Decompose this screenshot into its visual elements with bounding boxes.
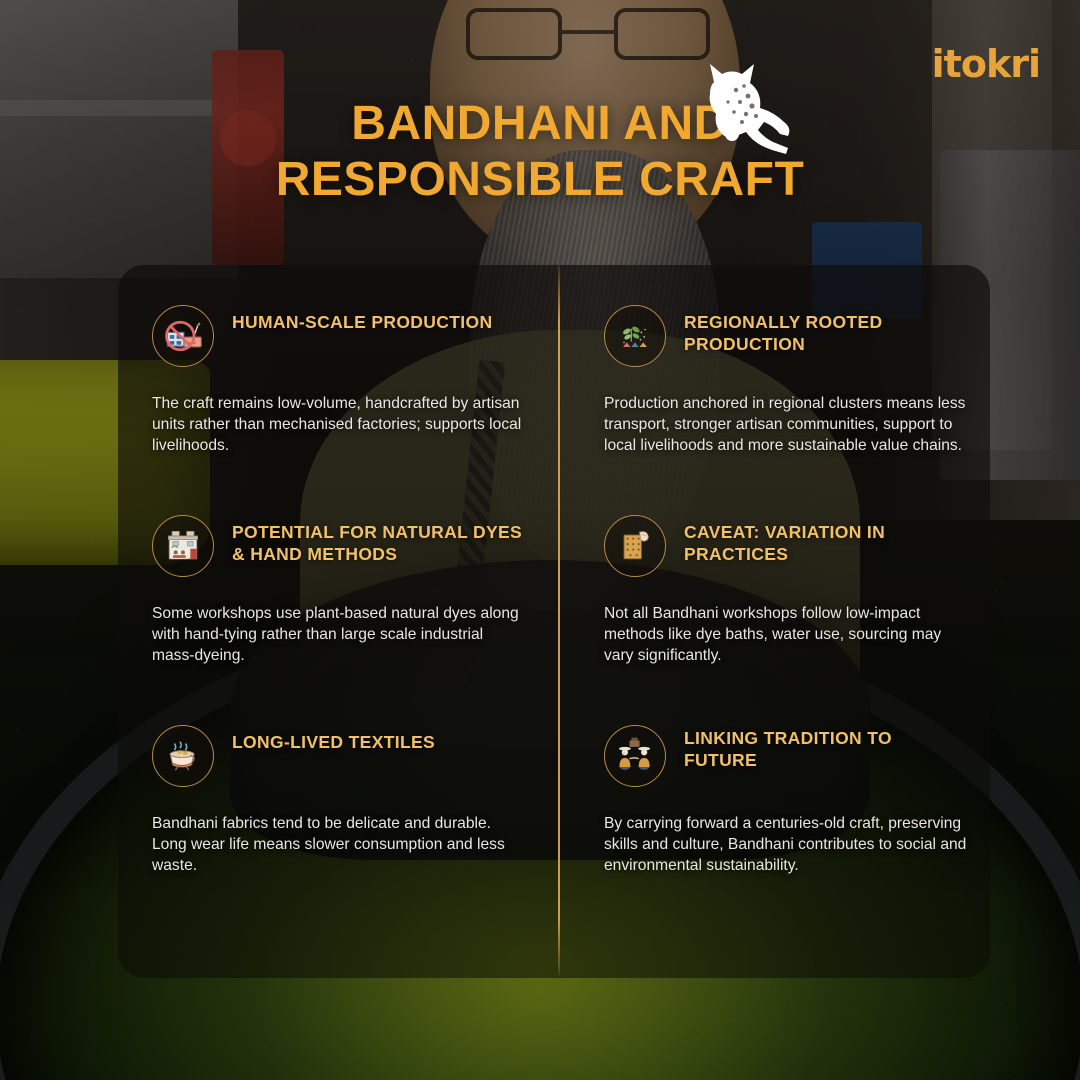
no-factory-icon (152, 305, 214, 367)
cat-silhouette-icon (688, 56, 808, 164)
seedling-soil-icon (604, 305, 666, 367)
page-title-line-1: BANDHANI AND (0, 96, 1080, 152)
feature-card-linking-tradition-to-future[interactable]: LINKING TRADITION TO FUTURE By carrying … (558, 685, 990, 925)
card-body: Not all Bandhani workshops follow low-im… (604, 603, 970, 667)
workshop-building-icon (152, 515, 214, 577)
card-body: Production anchored in regional clusters… (604, 393, 970, 457)
card-header: REGIONALLY ROOTED PRODUCTION (604, 305, 970, 367)
card-header: LINKING TRADITION TO FUTURE (604, 725, 970, 787)
card-header: LONG-LIVED TEXTILES (152, 725, 524, 787)
feature-card-potential-for-natural-dyes[interactable]: POTENTIAL FOR NATURAL DYES & HAND METHOD… (118, 475, 558, 685)
feature-card-caveat-variation-in-practices[interactable]: CAVEAT: VARIATION IN PRACTICES Not all B… (558, 475, 990, 685)
page-title-line-2: RESPONSIBLE CRAFT (0, 152, 1080, 208)
feature-card-long-lived-textiles[interactable]: LONG-LIVED TEXTILES Bandhani fabrics ten… (118, 685, 558, 925)
card-title: CAVEAT: VARIATION IN PRACTICES (684, 515, 970, 566)
features-grid: HUMAN-SCALE PRODUCTION The craft remains… (118, 265, 990, 978)
card-header: POTENTIAL FOR NATURAL DYES & HAND METHOD… (152, 515, 524, 577)
card-body: Some workshops use plant-based natural d… (152, 603, 524, 667)
brand-logo[interactable]: itokri (932, 42, 1040, 86)
card-body: Bandhani fabrics tend to be delicate and… (152, 813, 524, 877)
card-title: REGIONALLY ROOTED PRODUCTION (684, 305, 970, 356)
hand-holding-fabric-icon (604, 515, 666, 577)
feature-card-human-scale-production[interactable]: HUMAN-SCALE PRODUCTION The craft remains… (118, 265, 558, 475)
page-title: BANDHANI AND RESPONSIBLE CRAFT (0, 96, 1080, 207)
feature-card-regionally-rooted-production[interactable]: REGIONALLY ROOTED PRODUCTION Production … (558, 265, 990, 475)
card-title: LONG-LIVED TEXTILES (232, 725, 435, 753)
card-title: POTENTIAL FOR NATURAL DYES & HAND METHOD… (232, 515, 524, 566)
steaming-dye-pot-icon (152, 725, 214, 787)
card-body: The craft remains low-volume, handcrafte… (152, 393, 524, 457)
card-body: By carrying forward a centuries-old craf… (604, 813, 970, 877)
card-header: CAVEAT: VARIATION IN PRACTICES (604, 515, 970, 577)
card-header: HUMAN-SCALE PRODUCTION (152, 305, 524, 367)
two-artisans-icon (604, 725, 666, 787)
card-title: HUMAN-SCALE PRODUCTION (232, 305, 492, 333)
card-title: LINKING TRADITION TO FUTURE (684, 725, 970, 772)
